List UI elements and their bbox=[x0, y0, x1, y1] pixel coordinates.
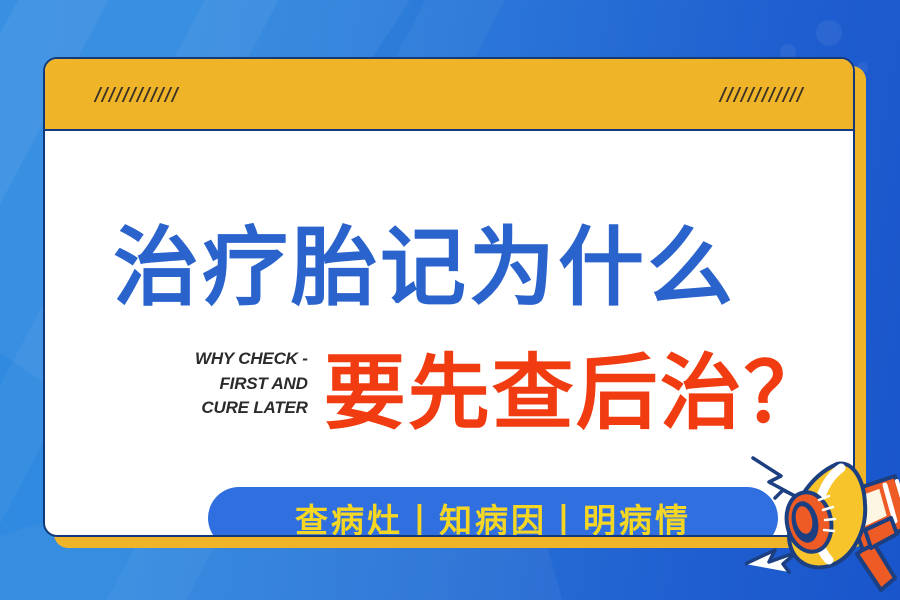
headline-primary: 治疗胎记为什么 bbox=[113, 225, 736, 311]
slash-ornament-left bbox=[97, 87, 176, 102]
key-points-label: 查病灶丨知病因丨明病情 bbox=[295, 494, 691, 537]
key-points-pill[interactable]: 查病灶丨知病因丨明病情 bbox=[208, 487, 778, 537]
headline-secondary-row: WHY CHECK - FIRST AND CURE LATER 要先查后治？ bbox=[195, 347, 828, 435]
slash-ornament-right bbox=[722, 87, 801, 102]
poster-canvas: 治疗胎记为什么 WHY CHECK - FIRST AND CURE LATER… bbox=[0, 0, 900, 600]
content-card: 治疗胎记为什么 WHY CHECK - FIRST AND CURE LATER… bbox=[43, 57, 855, 537]
background-bubble-icon bbox=[816, 20, 842, 46]
headline-highlight: 要先查后治？ bbox=[324, 353, 828, 435]
headline-english-subtitle: WHY CHECK - FIRST AND CURE LATER bbox=[195, 347, 308, 435]
card-header-bar bbox=[45, 59, 853, 131]
megaphone-icon bbox=[745, 438, 900, 600]
